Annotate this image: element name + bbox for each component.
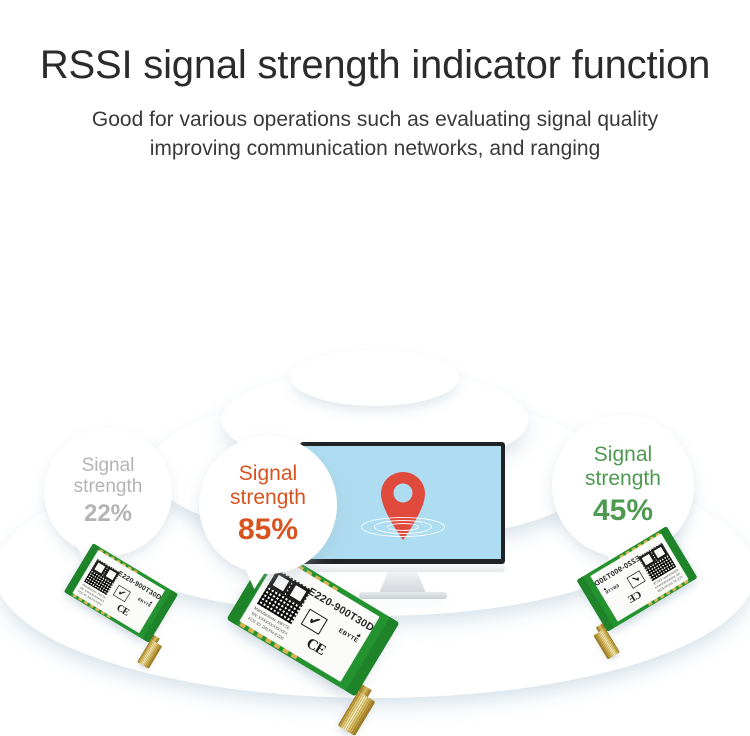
ce-mark-icon: CE [114,602,130,618]
page-subtitle: Good for various operations such as eval… [0,106,750,163]
bubble-label-line-1: Signal [82,455,135,476]
pin-ripple-group [360,516,446,538]
bubble-label-line-1: Signal [239,462,297,486]
bubble-percent-value: 45% [593,493,653,529]
brand-logo-text: EBYTE [137,598,151,609]
sma-antenna-connector [338,691,376,736]
monitor-stand-neck [380,572,426,592]
page-title: RSSI signal strength indicator function [0,42,750,88]
bubble-label-line-2: strength [585,467,661,491]
brand-logo-text: EBYTE [605,584,620,596]
signal-ripple-ring-5 [291,350,459,406]
ce-mark-icon: CE [303,635,328,659]
bubble-tail [239,563,268,590]
pin-ripple-3 [387,523,419,531]
monitor-stand-base [359,592,447,599]
subtitle-line-1: Good for various operations such as eval… [0,106,750,135]
bubble-label-line-1: Signal [594,443,652,467]
bubble-label-line-2: strength [230,486,306,510]
bubble-percent-value: 22% [84,500,132,529]
illustration-stage: Signal strength 22% Signal strength 85% … [0,170,750,620]
bubble-label-line-2: strength [74,476,143,497]
monitor-chin [300,564,505,572]
signal-strength-bubble-weak: Signal strength 22% [44,428,172,556]
ce-mark-icon: CE [627,589,644,606]
page-header: RSSI signal strength indicator function … [0,0,750,163]
signal-strength-bubble-strong: Signal strength 85% [199,436,337,574]
bubble-percent-value: 85% [238,512,298,548]
subtitle-line-2: improving communication networks, and ra… [0,135,750,164]
